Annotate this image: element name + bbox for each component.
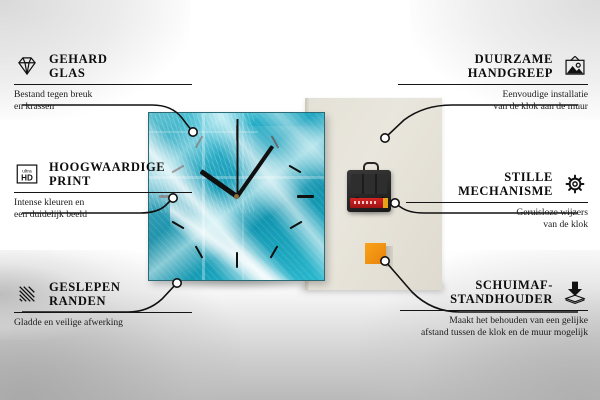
feature-title-line2: MECHANISME xyxy=(458,184,553,198)
feature-title-line1: GESLEPEN xyxy=(49,280,121,294)
ultra-hd-icon: ultra HD xyxy=(14,161,40,187)
feature-title-line2: STANDHOUDER xyxy=(450,292,553,306)
gear-icon xyxy=(562,171,588,197)
feature-rule xyxy=(398,84,588,85)
svg-text:HD: HD xyxy=(21,174,33,183)
connector-dot-gehard-glas xyxy=(189,128,197,136)
feature-rule xyxy=(14,312,192,313)
feature-sub-line2: van de klok xyxy=(398,219,588,230)
feature-rule xyxy=(14,192,192,193)
diagonal-edges-icon xyxy=(14,281,40,307)
feature-hoogwaardige-print: ultra HD HOOGWAARDIGE PRINT Intense kleu… xyxy=(14,160,202,220)
feature-sub-line2: afstand tussen de klok en de muur mogeli… xyxy=(392,327,588,338)
feature-title-line2: RANDEN xyxy=(49,294,121,308)
feature-stille-mechanisme: STILLE MECHANISME Geruisloze wijzers van… xyxy=(398,170,588,230)
connector-dot-schuimaf-standhouder xyxy=(381,257,389,265)
feature-sub-line1: Bestand tegen breuk xyxy=(14,89,202,100)
feature-sub-line1: Eenvoudige installatie xyxy=(390,89,588,100)
feature-title-line1: SCHUIMAF- xyxy=(450,278,553,292)
feature-title-line1: STILLE xyxy=(458,170,553,184)
feature-sub-line2: een duidelijk beeld xyxy=(14,209,202,220)
feature-rule xyxy=(14,84,192,85)
feature-sub-line1: Intense kleuren en xyxy=(14,197,202,208)
feature-sub-line1: Gladde en veilige afwerking xyxy=(14,317,202,328)
feature-title-line1: DUURZAME xyxy=(468,52,553,66)
feature-title-line1: HOOGWAARDIGE xyxy=(49,160,165,174)
feature-sub-line1: Maakt het behouden van een gelijke xyxy=(392,315,588,326)
feature-rule xyxy=(400,310,588,311)
feature-sub-line2: van de klok aan de muur xyxy=(390,101,588,112)
feature-gehard-glas: GEHARD GLAS Bestand tegen breuk en krass… xyxy=(14,52,202,112)
product-infographic: GEHARD GLAS Bestand tegen breuk en krass… xyxy=(0,0,600,400)
feature-sub-line2: en krassen xyxy=(14,101,202,112)
picture-frame-icon xyxy=(562,53,588,79)
feature-sub-line1: Geruisloze wijzers xyxy=(398,207,588,218)
feature-schuimaf-standhouder: SCHUIMAF- STANDHOUDER Maakt het behouden… xyxy=(392,278,588,338)
feature-title-line2: GLAS xyxy=(49,66,107,80)
feature-duurzame-handgreep: DUURZAME HANDGREEP Eenvoudige installati… xyxy=(390,52,588,112)
feature-rule xyxy=(406,202,588,203)
press-down-pad-icon xyxy=(562,279,588,305)
feature-title-line1: GEHARD xyxy=(49,52,107,66)
feature-title-line2: HANDGREEP xyxy=(468,66,553,80)
feature-geslepen-randen: GESLEPEN RANDEN Gladde en veilige afwerk… xyxy=(14,280,202,329)
connector-dot-duurzame-handgreep xyxy=(381,134,389,142)
diamond-icon xyxy=(14,53,40,79)
feature-title-line2: PRINT xyxy=(49,174,165,188)
